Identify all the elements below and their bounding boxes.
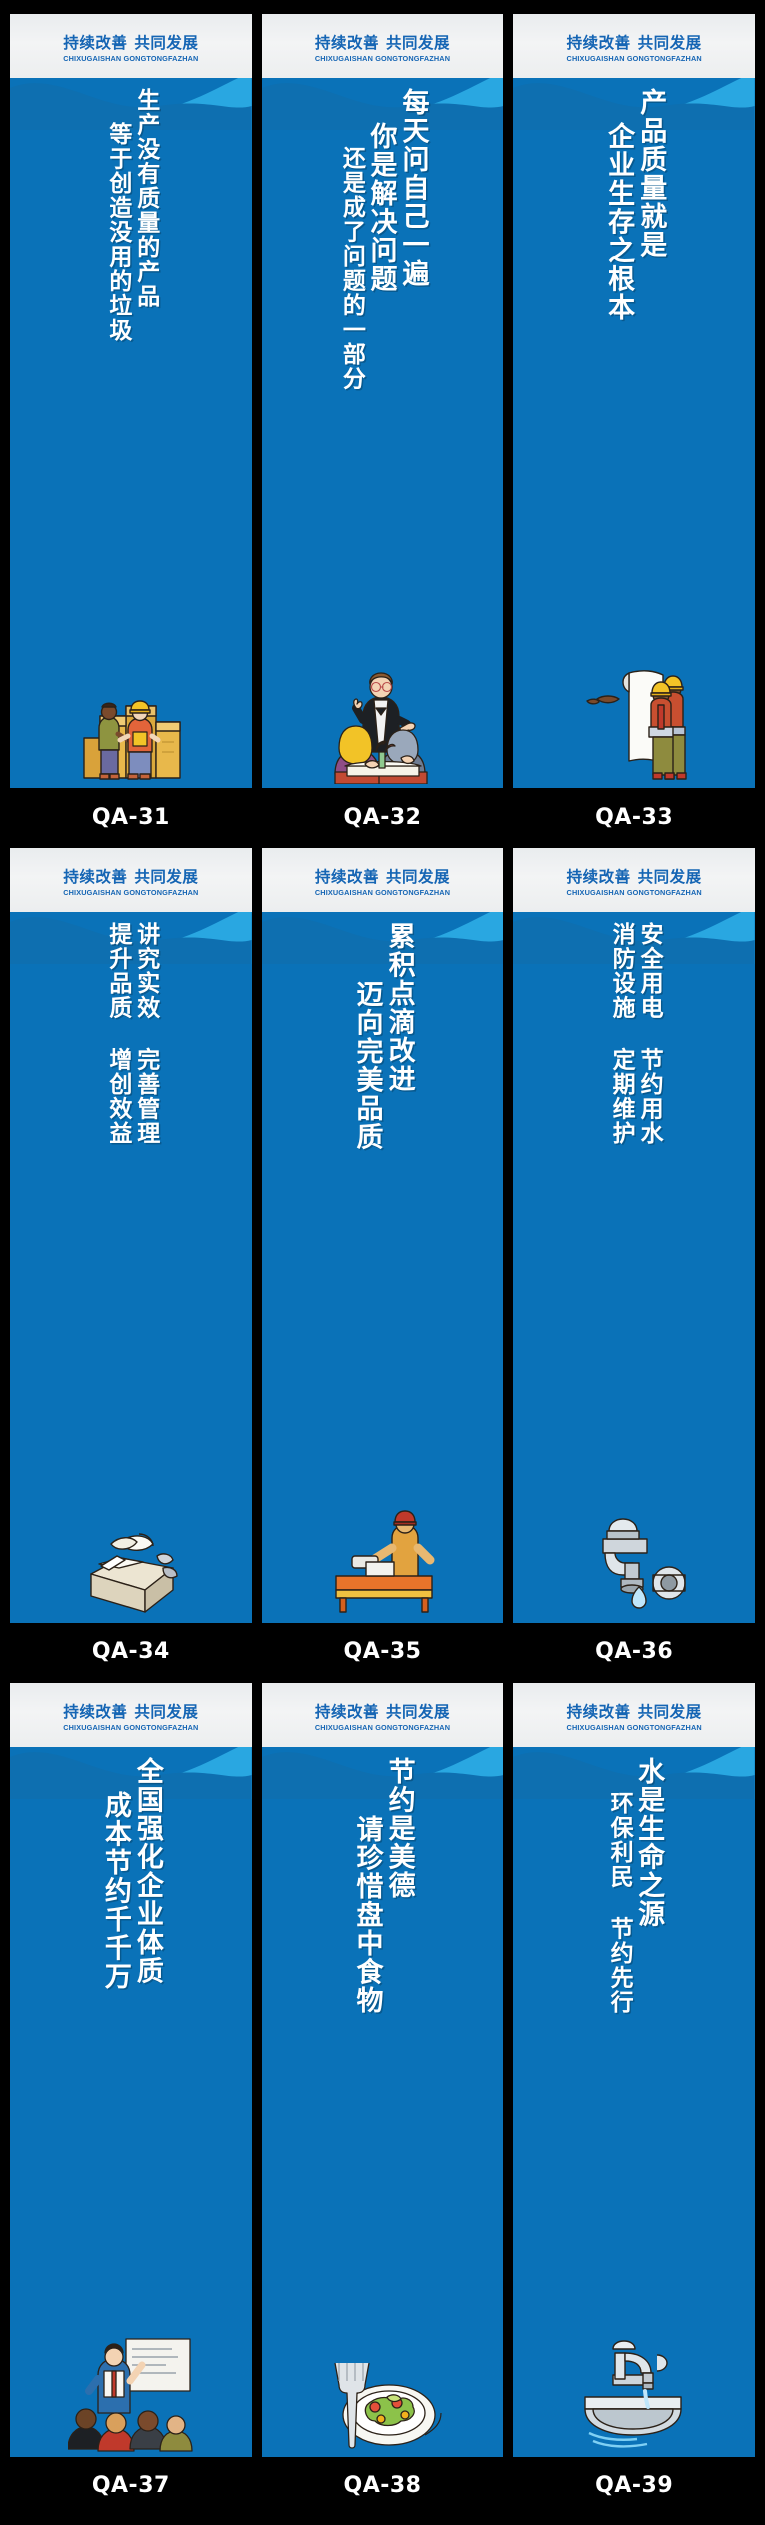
header-pinyin: CHIXUGAISHAN GONGTONGFAZHAN: [63, 888, 198, 897]
slogan-column-2: 你是解决问题: [366, 88, 394, 293]
poster-header: 持续改善共同发展 CHIXUGAISHAN GONGTONGFAZHAN: [10, 1683, 252, 1747]
header-chinese-title: 持续改善共同发展: [63, 35, 198, 52]
poster-header: 持续改善共同发展 CHIXUGAISHAN GONGTONGFAZHAN: [513, 14, 755, 78]
slogan-column-1: 生产没有质量的产品: [133, 88, 157, 309]
header-chinese-title: 持续改善共同发展: [315, 869, 450, 886]
header-pinyin: CHIXUGAISHAN GONGTONGFAZHAN: [567, 1723, 702, 1732]
illustration-two-workers-reading-large-blueprint: [513, 654, 755, 784]
header-pinyin: CHIXUGAISHAN GONGTONGFAZHAN: [315, 888, 450, 897]
poster[interactable]: 持续改善共同发展 CHIXUGAISHAN GONGTONGFAZHAN 生产没…: [10, 14, 252, 788]
code-label-qa-38: QA-38: [344, 2457, 422, 2515]
poster-slogan: 每天问自己一遍你是解决问题还是成了问题的一部分: [262, 88, 504, 338]
poster[interactable]: 持续改善共同发展 CHIXUGAISHAN GONGTONGFAZHAN 产品质…: [513, 14, 755, 788]
illustration-opened-carton-box-with-documents: [10, 1489, 252, 1619]
poster-cell-qa-38[interactable]: 持续改善共同发展 CHIXUGAISHAN GONGTONGFAZHAN 节约是…: [262, 1683, 504, 2515]
header-pinyin: CHIXUGAISHAN GONGTONGFAZHAN: [567, 54, 702, 63]
code-label-qa-34: QA-34: [92, 1623, 170, 1681]
slogan-column-2: 请珍惜盘中食物: [352, 1757, 380, 2015]
illustration-presenter-with-whiteboard-and-audience: [10, 2323, 252, 2453]
slogan-column-1: 节约是美德: [384, 1757, 412, 1900]
poster[interactable]: 持续改善共同发展 CHIXUGAISHAN GONGTONGFAZHAN 安全用…: [513, 848, 755, 1622]
header-pinyin: CHIXUGAISHAN GONGTONGFAZHAN: [63, 1723, 198, 1732]
poster[interactable]: 持续改善共同发展 CHIXUGAISHAN GONGTONGFAZHAN 全国强…: [10, 1683, 252, 2457]
header-pinyin: CHIXUGAISHAN GONGTONGFAZHAN: [567, 888, 702, 897]
poster-header: 持续改善共同发展 CHIXUGAISHAN GONGTONGFAZHAN: [10, 848, 252, 912]
poster-slogan: 产品质量就是企业生存之根本: [513, 88, 755, 338]
header-chinese-part2: 共同发展: [386, 869, 450, 886]
header-chinese-title: 持续改善共同发展: [567, 1704, 702, 1721]
poster-grid: 持续改善共同发展 CHIXUGAISHAN GONGTONGFAZHAN 生产没…: [0, 0, 765, 2525]
slogan-column-1: 全国强化企业体质: [133, 1757, 161, 1985]
poster[interactable]: 持续改善共同发展 CHIXUGAISHAN GONGTONGFAZHAN 水是生…: [513, 1683, 755, 2457]
slogan-column-1: 讲究实效 完善管理: [133, 922, 157, 1146]
header-chinese-part1: 持续改善: [567, 869, 631, 886]
slogan-column-2: 消防设施 定期维护: [608, 922, 632, 1146]
slogan-column-2: 迈向完美品质: [352, 922, 380, 1151]
header-chinese-title: 持续改善共同发展: [315, 1704, 450, 1721]
poster-header: 持续改善共同发展 CHIXUGAISHAN GONGTONGFAZHAN: [513, 1683, 755, 1747]
slogan-column-1: 水是生命之源: [634, 1757, 662, 1928]
header-chinese-part1: 持续改善: [315, 1704, 379, 1721]
poster[interactable]: 持续改善共同发展 CHIXUGAISHAN GONGTONGFAZHAN 累积点…: [262, 848, 504, 1622]
illustration-two-workers-with-cardboard-boxes: [10, 654, 252, 784]
poster-slogan: 安全用电 节约用水消防设施 定期维护: [513, 922, 755, 1172]
poster-cell-qa-32[interactable]: 持续改善共同发展 CHIXUGAISHAN GONGTONGFAZHAN 每天问…: [262, 14, 504, 846]
poster-cell-qa-36[interactable]: 持续改善共同发展 CHIXUGAISHAN GONGTONGFAZHAN 安全用…: [513, 848, 755, 1680]
poster-slogan: 水是生命之源环保利民 节约先行: [513, 1757, 755, 2007]
header-chinese-title: 持续改善共同发展: [63, 869, 198, 886]
header-chinese-part1: 持续改善: [63, 35, 127, 52]
slogan-column-2: 成本节约千千万: [101, 1757, 129, 1991]
slogan-column-1: 每天问自己一遍: [398, 88, 426, 288]
poster-slogan: 讲究实效 完善管理提升品质 增创效益: [10, 922, 252, 1172]
slogan-column-2: 提升品质 增创效益: [105, 922, 129, 1146]
header-chinese-title: 持续改善共同发展: [63, 1704, 198, 1721]
poster-header: 持续改善共同发展 CHIXUGAISHAN GONGTONGFAZHAN: [262, 848, 504, 912]
poster-header: 持续改善共同发展 CHIXUGAISHAN GONGTONGFAZHAN: [262, 14, 504, 78]
illustration-worker-polishing-block-on-orange-table: [262, 1489, 504, 1619]
illustration-plate-of-salad-with-fork: [262, 2323, 504, 2453]
code-label-qa-39: QA-39: [595, 2457, 673, 2515]
poster-cell-qa-37[interactable]: 持续改善共同发展 CHIXUGAISHAN GONGTONGFAZHAN 全国强…: [10, 1683, 252, 2515]
header-chinese-part1: 持续改善: [567, 1704, 631, 1721]
code-label-qa-35: QA-35: [344, 1623, 422, 1681]
code-label-qa-33: QA-33: [595, 788, 673, 846]
header-chinese-part1: 持续改善: [315, 35, 379, 52]
poster-cell-qa-33[interactable]: 持续改善共同发展 CHIXUGAISHAN GONGTONGFAZHAN 产品质…: [513, 14, 755, 846]
code-label-qa-37: QA-37: [92, 2457, 170, 2515]
header-chinese-title: 持续改善共同发展: [315, 35, 450, 52]
header-chinese-part2: 共同发展: [134, 869, 198, 886]
header-chinese-part2: 共同发展: [386, 1704, 450, 1721]
poster-cell-qa-31[interactable]: 持续改善共同发展 CHIXUGAISHAN GONGTONGFAZHAN 生产没…: [10, 14, 252, 846]
header-chinese-part2: 共同发展: [386, 35, 450, 52]
slogan-column-1: 累积点滴改进: [384, 922, 412, 1093]
header-chinese-title: 持续改善共同发展: [567, 35, 702, 52]
code-label-qa-32: QA-32: [344, 788, 422, 846]
poster-slogan: 全国强化企业体质成本节约千千万: [10, 1757, 252, 2007]
header-chinese-part2: 共同发展: [638, 1704, 702, 1721]
header-pinyin: CHIXUGAISHAN GONGTONGFAZHAN: [315, 54, 450, 63]
poster-cell-qa-39[interactable]: 持续改善共同发展 CHIXUGAISHAN GONGTONGFAZHAN 水是生…: [513, 1683, 755, 2515]
poster-slogan: 生产没有质量的产品等于创造没用的垃圾: [10, 88, 252, 338]
illustration-waiter-serving-couple-at-table: [262, 654, 504, 784]
slogan-column-2: 企业生存之根本: [604, 88, 632, 322]
slogan-column-3: 还是成了问题的一部分: [338, 88, 362, 391]
poster-slogan: 节约是美德请珍惜盘中食物: [262, 1757, 504, 2007]
illustration-faucet-over-sink-with-water: [513, 2323, 755, 2453]
header-chinese-part1: 持续改善: [567, 35, 631, 52]
header-chinese-part2: 共同发展: [134, 1704, 198, 1721]
header-chinese-title: 持续改善共同发展: [567, 869, 702, 886]
header-chinese-part1: 持续改善: [315, 869, 379, 886]
header-pinyin: CHIXUGAISHAN GONGTONGFAZHAN: [315, 1723, 450, 1732]
header-chinese-part2: 共同发展: [638, 869, 702, 886]
slogan-column-1: 安全用电 节约用水: [636, 922, 660, 1146]
poster-header: 持续改善共同发展 CHIXUGAISHAN GONGTONGFAZHAN: [262, 1683, 504, 1747]
header-pinyin: CHIXUGAISHAN GONGTONGFAZHAN: [63, 54, 198, 63]
slogan-column-1: 产品质量就是: [636, 88, 664, 259]
poster[interactable]: 持续改善共同发展 CHIXUGAISHAN GONGTONGFAZHAN 每天问…: [262, 14, 504, 788]
header-chinese-part1: 持续改善: [63, 1704, 127, 1721]
slogan-column-2: 等于创造没用的垃圾: [105, 88, 129, 343]
poster-header: 持续改善共同发展 CHIXUGAISHAN GONGTONGFAZHAN: [513, 848, 755, 912]
poster-header: 持续改善共同发展 CHIXUGAISHAN GONGTONGFAZHAN: [10, 14, 252, 78]
header-chinese-part2: 共同发展: [134, 35, 198, 52]
poster[interactable]: 持续改善共同发展 CHIXUGAISHAN GONGTONGFAZHAN 节约是…: [262, 1683, 504, 2457]
slogan-column-2: 环保利民 节约先行: [606, 1757, 630, 2015]
illustration-chrome-faucet-with-water-drop: [513, 1489, 755, 1619]
poster-cell-qa-34[interactable]: 持续改善共同发展 CHIXUGAISHAN GONGTONGFAZHAN 讲究实…: [10, 848, 252, 1680]
header-chinese-part1: 持续改善: [63, 869, 127, 886]
poster-cell-qa-35[interactable]: 持续改善共同发展 CHIXUGAISHAN GONGTONGFAZHAN 累积点…: [262, 848, 504, 1680]
poster-slogan: 累积点滴改进迈向完美品质: [262, 922, 504, 1172]
code-label-qa-31: QA-31: [92, 788, 170, 846]
code-label-qa-36: QA-36: [595, 1623, 673, 1681]
poster[interactable]: 持续改善共同发展 CHIXUGAISHAN GONGTONGFAZHAN 讲究实…: [10, 848, 252, 1622]
header-chinese-part2: 共同发展: [638, 35, 702, 52]
